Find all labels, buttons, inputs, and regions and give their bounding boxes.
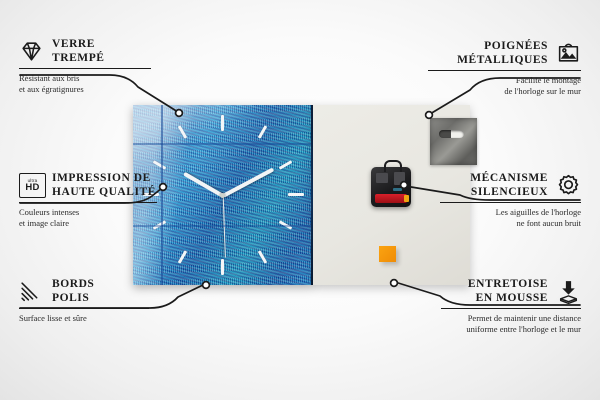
hands-center-cap bbox=[220, 193, 225, 198]
callout-title: POIGNÉES MÉTALLIQUES bbox=[457, 40, 548, 67]
hour-tick-5 bbox=[258, 250, 268, 264]
hour-tick-12 bbox=[221, 115, 224, 131]
callout-mecanisme-silencieux: MÉCANISME SILENCIEUX Les aiguilles de l'… bbox=[440, 172, 581, 229]
aa-battery bbox=[375, 194, 407, 203]
movement-hanger-hook bbox=[384, 160, 402, 172]
callout-title: VERRE TREMPÉ bbox=[52, 38, 105, 65]
hour-tick-11 bbox=[178, 125, 188, 139]
callout-bords-polis: BORDS POLIS Surface lisse et sûre bbox=[19, 278, 169, 324]
hanger-keyhole-slot bbox=[439, 130, 464, 138]
foam-spacer bbox=[379, 246, 396, 262]
callout-divider bbox=[19, 68, 151, 69]
hour-tick-7 bbox=[178, 250, 188, 264]
callout-divider bbox=[19, 202, 157, 203]
callout-subtitle: Facilite le montage de l'horloge sur le … bbox=[428, 75, 581, 97]
ultra-hd-icon-main-text: HD bbox=[25, 183, 39, 193]
callout-divider bbox=[19, 308, 149, 309]
hour-tick-4 bbox=[279, 220, 293, 230]
foam-spacer-icon bbox=[556, 279, 581, 304]
callout-subtitle: Couleurs intenses et image claire bbox=[19, 207, 174, 229]
hour-hand bbox=[183, 172, 224, 198]
second-hand bbox=[222, 196, 226, 258]
hour-tick-2 bbox=[279, 160, 293, 170]
callout-title: IMPRESSION DE HAUTE QUALITÉ bbox=[52, 172, 156, 199]
hour-tick-1 bbox=[258, 125, 268, 139]
callout-subtitle: Surface lisse et sûre bbox=[19, 313, 169, 324]
callout-divider bbox=[428, 70, 581, 71]
callout-impression-haute-qualite: ultra HD IMPRESSION DE HAUTE QUALITÉ Cou… bbox=[19, 172, 174, 229]
callout-title: ENTRETOISE EN MOUSSE bbox=[468, 278, 548, 305]
callout-title: MÉCANISME SILENCIEUX bbox=[470, 172, 548, 199]
callout-subtitle: Les aiguilles de l'horloge ne font aucun… bbox=[440, 207, 581, 229]
callout-poignees-metalliques: POIGNÉES MÉTALLIQUES Facilite le montage… bbox=[428, 40, 581, 97]
product-photo bbox=[133, 105, 470, 285]
gear-icon bbox=[556, 173, 581, 198]
picture-hanger-icon bbox=[556, 41, 581, 66]
callout-subtitle: Permet de maintenir une distance uniform… bbox=[441, 313, 581, 335]
callout-entretoise-en-mousse: ENTRETOISE EN MOUSSE Permet de maintenir… bbox=[441, 278, 581, 335]
callout-verre-trempe: VERRE TREMPÉ Résistant aux bris et aux é… bbox=[19, 38, 171, 95]
movement-detail-strip bbox=[393, 188, 402, 191]
hour-tick-10 bbox=[153, 160, 167, 170]
diamond-icon bbox=[19, 39, 44, 64]
infographic-canvas: VERRE TREMPÉ Résistant aux bris et aux é… bbox=[0, 0, 600, 400]
hour-tick-3 bbox=[288, 193, 304, 196]
minute-hand bbox=[222, 167, 274, 197]
movement-detail-right bbox=[394, 172, 405, 185]
ultra-hd-icon: ultra HD bbox=[19, 173, 44, 198]
callout-subtitle: Résistant aux bris et aux égratignures bbox=[19, 73, 171, 95]
callout-divider bbox=[441, 308, 581, 309]
hour-tick-6 bbox=[221, 259, 224, 275]
metallic-hanger-plate bbox=[430, 118, 477, 165]
silent-quartz-movement bbox=[371, 167, 411, 207]
callout-title: BORDS POLIS bbox=[52, 278, 94, 305]
callout-divider bbox=[440, 202, 581, 203]
polished-edge-icon bbox=[19, 279, 44, 304]
battery-positive-tip bbox=[404, 195, 409, 202]
movement-detail-left bbox=[376, 173, 388, 183]
